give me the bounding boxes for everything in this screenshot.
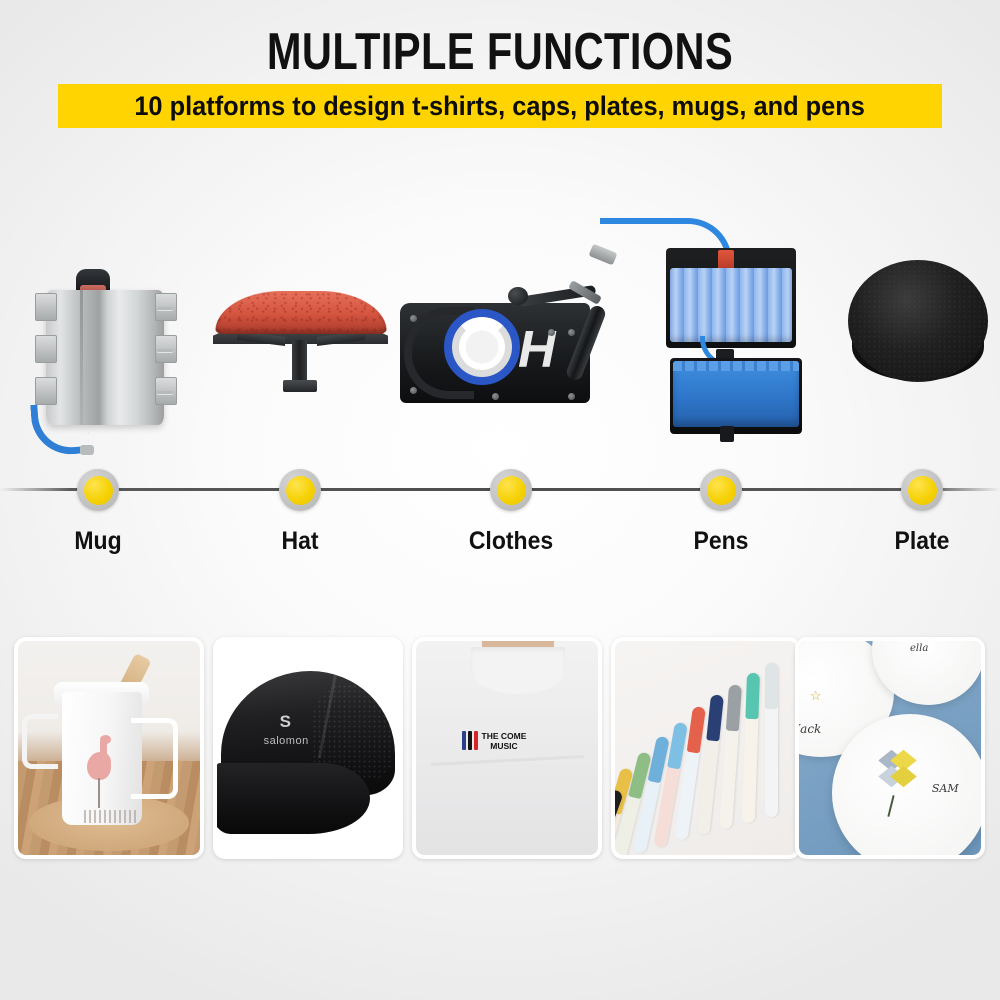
mug-press-screw bbox=[157, 391, 173, 394]
plate-name-ella: ella bbox=[910, 643, 928, 654]
clothes-press-screw bbox=[410, 387, 417, 394]
clothes-press-screw bbox=[568, 393, 575, 400]
header: MULTIPLE FUNCTIONS 10 platforms to desig… bbox=[0, 0, 1000, 150]
photo-card-plates[interactable]: SAM Jack ella ☆ bbox=[795, 637, 985, 859]
cap-photo-brim bbox=[217, 763, 370, 834]
subtitle-text: 10 platforms to design t-shirts, caps, p… bbox=[135, 91, 866, 122]
category-timeline: Mug Hat Clothes Pens Plate bbox=[0, 455, 1000, 585]
timeline-node-plate[interactable] bbox=[901, 469, 943, 511]
mug-press-bracket bbox=[35, 377, 57, 405]
plate-press-texture bbox=[848, 260, 988, 382]
shirt-photo-collar bbox=[471, 647, 566, 694]
timeline-label-plate: Plate bbox=[830, 527, 1000, 556]
flamingo-leg bbox=[98, 778, 100, 808]
mug-press-bracket bbox=[35, 335, 57, 363]
timeline-dot-icon bbox=[286, 476, 315, 505]
timeline-dot-icon bbox=[908, 476, 937, 505]
timeline-label-pens: Pens bbox=[629, 527, 813, 556]
photo-card-cap[interactable]: S salomon bbox=[213, 637, 403, 859]
pen-cap bbox=[706, 694, 724, 741]
mug-photo-background-handle bbox=[22, 714, 58, 770]
clothes-press-attachment: H bbox=[400, 285, 600, 410]
pen-press-lower-ribs bbox=[673, 361, 799, 371]
flamingo-icon bbox=[87, 752, 111, 780]
subtitle-banner: 10 platforms to design t-shirts, caps, p… bbox=[58, 84, 942, 128]
page-title: MULTIPLE FUNCTIONS bbox=[100, 24, 900, 80]
photo-card-image: S salomon bbox=[217, 641, 399, 855]
timeline-dot-icon bbox=[707, 476, 736, 505]
shirt-print-line1: THE COME bbox=[482, 731, 527, 741]
shirt-print-text: THE COME MUSIC bbox=[482, 731, 527, 751]
timeline-label-hat: Hat bbox=[208, 527, 392, 556]
shirt-print-line2: MUSIC bbox=[482, 741, 527, 751]
clothes-press-screw bbox=[548, 329, 555, 336]
pen-press-red-tab bbox=[718, 250, 734, 270]
salomon-logo-text: salomon bbox=[257, 735, 315, 752]
photo-card-image: THE COME MUSIC bbox=[416, 641, 598, 855]
pen-press-attachment bbox=[648, 218, 828, 433]
clothes-press-screw bbox=[492, 393, 499, 400]
clothes-press-screw bbox=[410, 315, 417, 322]
timeline-node-pens[interactable] bbox=[700, 469, 742, 511]
mug-press-screw bbox=[157, 307, 173, 310]
timeline-dot-ring bbox=[901, 469, 943, 511]
clothes-press-brand-mark: H bbox=[518, 327, 572, 375]
timeline-dot-icon bbox=[497, 476, 526, 505]
logo-bar-black bbox=[468, 731, 472, 750]
plate-press-disc bbox=[848, 260, 988, 382]
photo-card-image: SAM Jack ella ☆ bbox=[799, 641, 981, 855]
salomon-logo-mark: S bbox=[272, 712, 299, 736]
timeline-node-hat[interactable] bbox=[279, 469, 321, 511]
star-icon: ☆ bbox=[810, 688, 822, 704]
pen-press-upper-platen bbox=[670, 268, 792, 342]
mug-photo bbox=[18, 641, 200, 855]
mug-photo-script-text bbox=[84, 810, 139, 823]
photo-card-image bbox=[18, 641, 200, 855]
photo-card-image bbox=[615, 641, 797, 855]
pen-cap bbox=[765, 663, 778, 709]
plate-name-sam: SAM bbox=[932, 782, 959, 795]
logo-bar-red bbox=[474, 731, 478, 750]
shirt-print-logo: THE COME MUSIC bbox=[462, 731, 527, 751]
logo-bar-blue bbox=[462, 731, 466, 750]
timeline-dot-icon bbox=[84, 476, 113, 505]
pen-cap bbox=[726, 685, 742, 732]
pen-item bbox=[742, 673, 760, 823]
plate-press-attachment bbox=[848, 260, 988, 410]
hat-press-foot bbox=[283, 380, 317, 392]
timeline-label-clothes: Clothes bbox=[419, 527, 603, 556]
mug-press-cable-tip bbox=[80, 445, 94, 455]
photo-card-row: S salomon THE COME M bbox=[0, 637, 1000, 862]
mug-press-screw bbox=[157, 349, 173, 352]
product-stage: H bbox=[0, 190, 1000, 490]
cap-photo: S salomon bbox=[217, 641, 399, 855]
timeline-dot-ring bbox=[700, 469, 742, 511]
plates-photo: SAM Jack ella ☆ bbox=[799, 641, 981, 855]
hat-press-attachment bbox=[213, 290, 388, 400]
photo-card-pens[interactable] bbox=[611, 637, 801, 859]
photo-card-mug[interactable] bbox=[14, 637, 204, 859]
plate-name-jack: Jack bbox=[799, 722, 821, 736]
pen-press-tab bbox=[720, 426, 734, 442]
hat-press-silicone-pad bbox=[215, 291, 387, 334]
timeline-dot-ring bbox=[279, 469, 321, 511]
pens-photo bbox=[615, 641, 797, 855]
logo-bars-icon bbox=[462, 731, 478, 750]
pen-item bbox=[765, 663, 778, 817]
photo-card-shirt[interactable]: THE COME MUSIC bbox=[412, 637, 602, 859]
timeline-dot-ring bbox=[77, 469, 119, 511]
hat-press-pad-texture bbox=[215, 291, 387, 334]
pen-cap bbox=[745, 673, 760, 719]
flamingo-head bbox=[100, 735, 111, 744]
mug-photo-handle bbox=[131, 718, 178, 799]
mug-press-attachment bbox=[26, 235, 186, 450]
pen-cap bbox=[687, 706, 706, 753]
timeline-node-mug[interactable] bbox=[77, 469, 119, 511]
clothes-press-coil-inner bbox=[452, 317, 512, 377]
shirt-photo-fold bbox=[431, 755, 584, 766]
timeline-label-mug: Mug bbox=[6, 527, 190, 556]
mug-press-bracket bbox=[35, 293, 57, 321]
clothes-press-screw bbox=[568, 329, 575, 336]
shirt-photo: THE COME MUSIC bbox=[416, 641, 598, 855]
timeline-dot-ring bbox=[490, 469, 532, 511]
clothes-press-knob bbox=[508, 287, 528, 305]
timeline-node-clothes[interactable] bbox=[490, 469, 532, 511]
